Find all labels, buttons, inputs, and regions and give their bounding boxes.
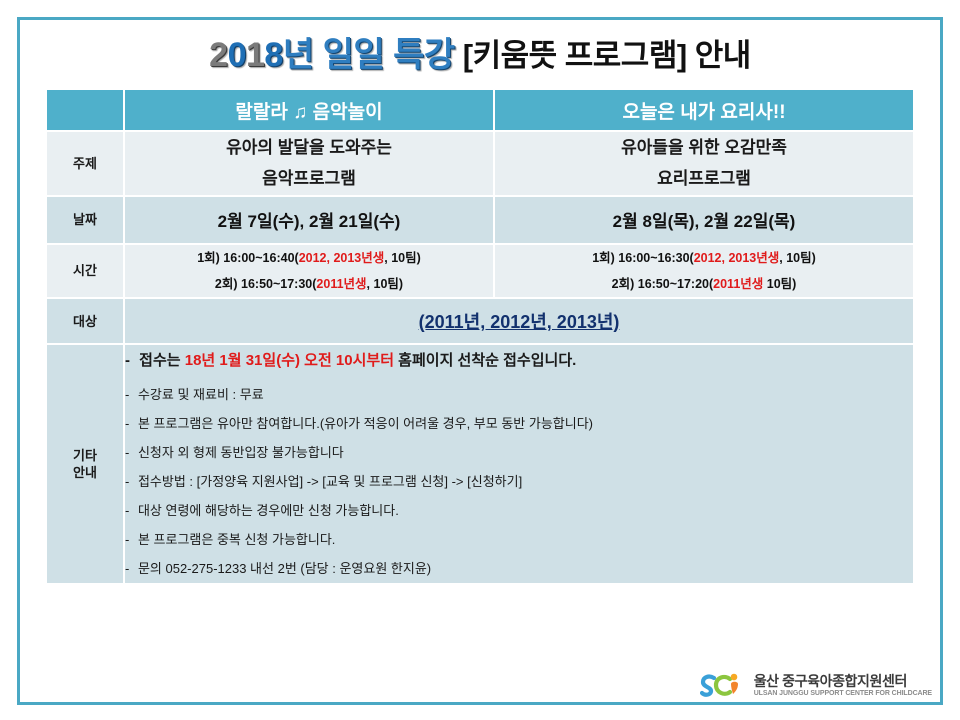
footer-logo: 울산 중구육아종합지원센터 ULSAN JUNGGU SUPPORT CENTE… [700,672,932,700]
note-text-pre: 신청자 외 형제 동반입장 불가능합니다 [134,445,343,460]
time-a-session1: 1회) 16:00~16:40(2012, 2013년생, 10팀) [125,245,493,271]
row-label-notes-line1: 기타 [47,447,123,465]
table-row-date: 날짜 2월 7일(수), 2월 21일(수) 2월 8일(목), 2월 22일(… [47,197,913,243]
notes-list: - 접수는 18년 1월 31일(수) 오전 10시부터 홈페이지 선착순 접수… [125,345,913,583]
note-item: - 수강료 및 재료비 : 무료 [125,380,913,409]
topic-b-line1: 유아들을 위한 오감만족 [495,132,913,163]
time-a-session2: 2회) 16:50~17:30(2011년생, 10팀) [125,271,493,297]
note-bullet-dash: - [125,416,129,431]
sc-childcare-logo-icon [700,672,746,700]
note-bullet-dash: - [125,561,129,576]
time-a-s1-pre: 1회) 16:00~16:40( [197,251,299,265]
date-cell-a: 2월 7일(수), 2월 21일(수) [125,197,493,243]
note-bullet-dash: - [125,387,129,402]
title-part-2: 0 [228,36,246,74]
topic-cell-a: 유아의 발달을 도와주는 음악프로그램 [125,132,493,195]
header-cell-program-a: 랄랄라 ♫ 음악놀이 [125,90,493,130]
target-cell: (2011년, 2012년, 2013년) [125,299,913,343]
note-text-pre: 수강료 및 재료비 : 무료 [134,387,263,402]
time-b-s2-post: 10팀) [763,277,796,291]
table-row-time: 시간 1회) 16:00~16:40(2012, 2013년생, 10팀) 2회… [47,245,913,298]
note-item: - 접수방법 : [가정양육 지원사업] -> [교육 및 프로그램 신청] -… [125,467,913,496]
logo-text: 울산 중구육아종합지원센터 ULSAN JUNGGU SUPPORT CENTE… [754,674,932,697]
note-item: - 본 프로그램은 유아만 참여합니다.(유아가 적응이 어려울 경우, 부모 … [125,409,913,438]
row-label-notes: 기타 안내 [47,345,123,583]
target-value: (2011년, 2012년, 2013년) [419,312,620,332]
time-b-s1-years: 2012, 2013년생 [694,251,780,265]
table-row-topic: 주제 유아의 발달을 도와주는 음악프로그램 유아들을 위한 오감만족 요리프로… [47,132,913,195]
time-b-s2-pre: 2회) 16:50~17:20( [612,277,714,291]
time-b-s1-pre: 1회) 16:00~16:30( [592,251,694,265]
title-part-4: 8 [264,36,282,74]
note-text-pre: 본 프로그램은 중복 신청 가능합니다. [134,532,335,547]
note-item: - 본 프로그램은 중복 신청 가능합니다. [125,525,913,554]
note-text-pre: 접수방법 : [가정양육 지원사업] -> [교육 및 프로그램 신청] -> … [134,474,522,489]
time-a-s2-post: , 10팀) [367,277,404,291]
row-label-notes-line2: 안내 [47,464,123,482]
row-label-date: 날짜 [47,197,123,243]
title-part-6: 일일 특강 [323,36,455,74]
note-text-pre: 대상 연령에 해당하는 경우에만 신청 가능합니다. [134,503,398,518]
topic-a-line2: 음악프로그램 [125,163,493,194]
table-header-row: 랄랄라 ♫ 음악놀이 오늘은 내가 요리사!! [47,90,913,130]
header-cell-program-b: 오늘은 내가 요리사!! [495,90,913,130]
row-label-target: 대상 [47,299,123,343]
note-text-pre: 문의 052-275-1233 내선 2번 (담당 : 운영요원 한지윤) [134,561,431,576]
time-a-s1-post: , 10팀) [384,251,421,265]
page-title-area: 2018년 일일 특강 [키움뜻 프로그램] 안내 [18,24,942,86]
title-part-1: 2 [209,36,227,74]
topic-cell-b: 유아들을 위한 오감만족 요리프로그램 [495,132,913,195]
note-text-pre: 본 프로그램은 유아만 참여합니다.(유아가 적응이 어려울 경우, 부모 동반… [134,416,593,431]
row-label-topic: 주제 [47,132,123,195]
title-part-5: 년 [283,36,323,74]
time-a-s2-years: 2011년생 [316,277,366,291]
program-table: 랄랄라 ♫ 음악놀이 오늘은 내가 요리사!! 주제 유아의 발달을 도와주는 … [45,88,915,585]
page-title: 2018년 일일 특강 [키움뜻 프로그램] 안내 [209,38,751,72]
date-cell-b: 2월 8일(목), 2월 22일(목) [495,197,913,243]
time-cell-a: 1회) 16:00~16:40(2012, 2013년생, 10팀) 2회) 1… [125,245,493,298]
note-bullet-dash: - [125,445,129,460]
time-cell-b: 1회) 16:00~16:30(2012, 2013년생, 10팀) 2회) 1… [495,245,913,298]
notes-cell: - 접수는 18년 1월 31일(수) 오전 10시부터 홈페이지 선착순 접수… [125,345,913,583]
time-b-s2-years: 2011년생 [713,277,763,291]
time-b-session2: 2회) 16:50~17:20(2011년생 10팀) [495,271,913,297]
note-text-highlight: 18년 1월 31일(수) 오전 10시부터 [185,352,394,369]
time-a-s1-years: 2012, 2013년생 [299,251,385,265]
time-b-session1: 1회) 16:00~16:30(2012, 2013년생, 10팀) [495,245,913,271]
row-label-time: 시간 [47,245,123,298]
organization-name-en: ULSAN JUNGGU SUPPORT CENTER FOR CHILDCAR… [754,690,932,697]
title-part-3: 1 [246,36,264,74]
time-b-s1-post: , 10팀) [779,251,816,265]
table-row-target: 대상 (2011년, 2012년, 2013년) [47,299,913,343]
note-bullet-dash: - [125,352,130,369]
note-bullet-dash: - [125,474,129,489]
organization-name-ko: 울산 중구육아종합지원센터 [754,674,932,689]
note-item: - 신청자 외 형제 동반입장 불가능합니다 [125,438,913,467]
title-part-7: [키움뜻 프로그램] 안내 [455,38,751,73]
note-bullet-dash: - [125,503,129,518]
note-text-post: 홈페이지 선착순 접수입니다. [394,352,576,369]
announcement-page: 2018년 일일 특강 [키움뜻 프로그램] 안내 랄랄라 ♫ 음악놀이 오늘은… [0,0,960,720]
note-item: - 문의 052-275-1233 내선 2번 (담당 : 운영요원 한지윤) [125,554,913,583]
table-row-notes: 기타 안내 - 접수는 18년 1월 31일(수) 오전 10시부터 홈페이지 … [47,345,913,583]
note-item: - 대상 연령에 해당하는 경우에만 신청 가능합니다. [125,496,913,525]
note-text-pre: 접수는 [135,352,185,369]
topic-a-line1: 유아의 발달을 도와주는 [125,132,493,163]
time-a-s2-pre: 2회) 16:50~17:30( [215,277,317,291]
note-item: - 접수는 18년 1월 31일(수) 오전 10시부터 홈페이지 선착순 접수… [125,345,913,379]
note-bullet-dash: - [125,532,129,547]
header-cell-blank [47,90,123,130]
topic-b-line2: 요리프로그램 [495,163,913,194]
